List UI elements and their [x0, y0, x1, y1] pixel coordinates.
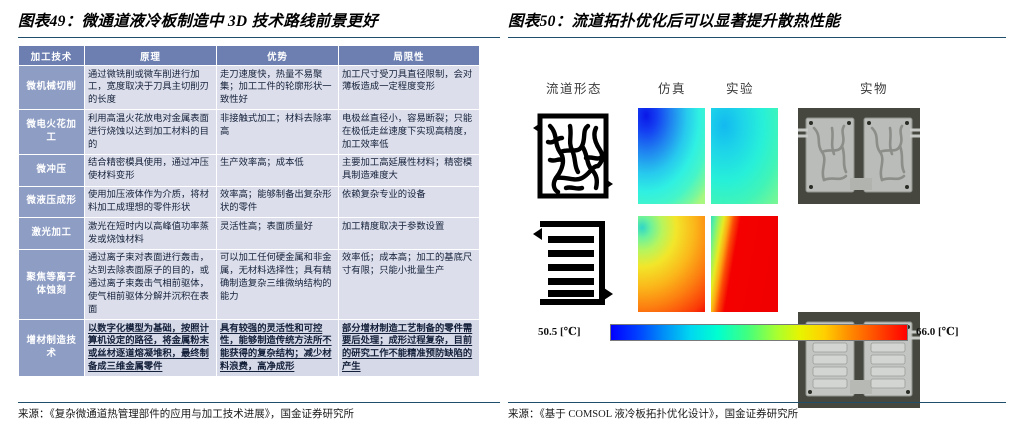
- cell-limitation: 加工精度取决于参数设置: [339, 218, 480, 250]
- cell-tech: 聚焦等离子体蚀刻: [19, 249, 85, 319]
- cell-advantage: 生产效率高；成本低: [217, 154, 339, 186]
- cell-principle: 结合精密模具使用，通过冲压使材料变形: [85, 154, 217, 186]
- figure-column-headers: 流道形态 仿真 实验 实物: [508, 78, 1006, 100]
- cell-tech: 微电火花加工: [19, 110, 85, 154]
- thermal-map-simulation-straight: [638, 216, 705, 312]
- right-source-rule: [508, 402, 1006, 403]
- left-title-rule: [18, 37, 500, 38]
- figure-page: 图表49：微通道液冷板制造中 3D 技术路线前景更好 加工技术 原理 优势 局限…: [0, 0, 1024, 433]
- cell-advantage: 可以加工任何硬金属和非金属，无材料选择性；具有精确制造复杂三维微纳结构的能力: [217, 249, 339, 319]
- cell-advantage: 效率高；能够制备出复杂形状的零件: [217, 186, 339, 218]
- table-header-row: 加工技术 原理 优势 局限性: [19, 46, 480, 66]
- table-row-highlighted: 增材制造技术 以数字化模型为基础，按照计算机设定的路径，将金属粉末或丝材逐道熔凝…: [19, 320, 480, 377]
- col-header-simulation: 仿真: [658, 78, 686, 97]
- left-source-note: 来源：《复杂微通道热管理部件的应用与加工技术进展》，国金证券研究所: [18, 406, 354, 421]
- col-header-channel-shape: 流道形态: [546, 78, 602, 97]
- schematic-straight-parallel-channel: [530, 216, 616, 312]
- cell-advantage: 非接触式加工；材料去除率高: [217, 110, 339, 154]
- cell-tech: 激光加工: [19, 218, 85, 250]
- table-row: 微液压成形 使用加压液体作为介质，将材料加工成理想的零件形状 效率高；能够制备出…: [19, 186, 480, 218]
- col-header-tech: 加工技术: [19, 46, 85, 66]
- cell-principle: 激光在短时内以高峰值功率蒸发或烧蚀材料: [85, 218, 217, 250]
- cell-principle: 以数字化模型为基础，按照计算机设定的路径，将金属粉末或丝材逐道熔凝堆积，最终制备…: [85, 320, 217, 377]
- col-header-advantage: 优势: [217, 46, 339, 66]
- cell-principle: 利用高温火花放电对金属表面进行烧蚀以达到加工材料的目的: [85, 110, 217, 154]
- temperature-colorbar: [610, 324, 908, 341]
- cell-tech: 微液压成形: [19, 186, 85, 218]
- cell-limitation: 部分增材制造工艺制备的零件需要后处理；成形过程复杂，目前的研究工作不能精准预防缺…: [339, 320, 480, 377]
- right-source-note: 来源：《基于 COMSOL 液冷板拓扑优化设计》，国金证券研究所: [508, 406, 798, 421]
- col-header-physical: 实物: [860, 78, 888, 97]
- table-row: 聚焦等离子体蚀刻 通过离子束对表面进行轰击，达到去除表面原子的目的，或通过离子束…: [19, 249, 480, 319]
- col-header-experiment: 实验: [726, 78, 754, 97]
- cell-tech: 微机械切削: [19, 66, 85, 110]
- schematic-branching-tree-channel: [530, 108, 616, 204]
- cell-advantage: 灵活性高；表面质量好: [217, 218, 339, 250]
- cell-limitation: 效率低；成本高；加工的基底尺寸有限；只能小批量生产: [339, 249, 480, 319]
- right-title-rule: [508, 37, 1006, 38]
- thermal-map-experiment-topology: [711, 108, 778, 204]
- thermal-map-experiment-straight: [711, 216, 778, 312]
- cell-tech: 增材制造技术: [19, 320, 85, 377]
- cell-limitation: 电极丝直径小，容易断裂；只能在极低走丝速度下实现高精度，加工效率低: [339, 110, 480, 154]
- cell-advantage: 具有较强的灵活性和可控性，能够制造传统方法所不能获得的复杂结构；减少材料浪费，高…: [217, 320, 339, 377]
- colorbar-min-label: 50.5 [℃]: [538, 325, 581, 338]
- cell-principle: 通过微铣削或微车削进行加工，宽度取决于刀具主切削刃的长度: [85, 66, 217, 110]
- cell-advantage: 走刀速度快，热量不易聚集；加工工件的轮廓形状一致性好: [217, 66, 339, 110]
- processing-technology-table: 加工技术 原理 优势 局限性 微机械切削 通过微铣削或微车削进行加工，宽度取决于…: [18, 45, 480, 377]
- right-figure-panel: 图表50：流道拓扑优化后可以显著提升散热性能 流道形态 仿真 实验 实物: [508, 0, 1006, 433]
- temperature-colorbar-row: 50.5 [℃] 66.0 [℃]: [528, 322, 998, 344]
- cold-plate-comparison-figure: 流道形态 仿真 实验 实物: [508, 46, 1006, 376]
- cell-limitation: 依赖复杂专业的设备: [339, 186, 480, 218]
- table-row: 微机械切削 通过微铣削或微车削进行加工，宽度取决于刀具主切削刃的长度 走刀速度快…: [19, 66, 480, 110]
- left-figure-panel: 图表49：微通道液冷板制造中 3D 技术路线前景更好 加工技术 原理 优势 局限…: [18, 0, 500, 433]
- col-header-principle: 原理: [85, 46, 217, 66]
- right-figure-title: 图表50：流道拓扑优化后可以显著提升散热性能: [508, 0, 1006, 31]
- cell-principle: 通过离子束对表面进行轰击，达到去除表面原子的目的，或通过离子束轰击气相前驱体，使…: [85, 249, 217, 319]
- left-figure-title: 图表49：微通道液冷板制造中 3D 技术路线前景更好: [18, 0, 500, 31]
- photo-bionic-cold-plate: [798, 108, 920, 204]
- table-row: 激光加工 激光在短时内以高峰值功率蒸发或烧蚀材料 灵活性高；表面质量好 加工精度…: [19, 218, 480, 250]
- table-row: 微冲压 结合精密模具使用，通过冲压使材料变形 生产效率高；成本低 主要加工高延展…: [19, 154, 480, 186]
- table-row: 微电火花加工 利用高温火花放电对金属表面进行烧蚀以达到加工材料的目的 非接触式加…: [19, 110, 480, 154]
- cell-limitation: 主要加工高延展性材料；精密模具制造难度大: [339, 154, 480, 186]
- thermal-map-simulation-topology: [638, 108, 705, 204]
- col-header-limitation: 局限性: [339, 46, 480, 66]
- colorbar-max-label: 66.0 [℃]: [916, 325, 959, 338]
- left-source-rule: [18, 402, 500, 403]
- cell-principle: 使用加压液体作为介质，将材料加工成理想的零件形状: [85, 186, 217, 218]
- cell-tech: 微冲压: [19, 154, 85, 186]
- cell-limitation: 加工尺寸受刀具直径限制，会对薄板造成一定程度变形: [339, 66, 480, 110]
